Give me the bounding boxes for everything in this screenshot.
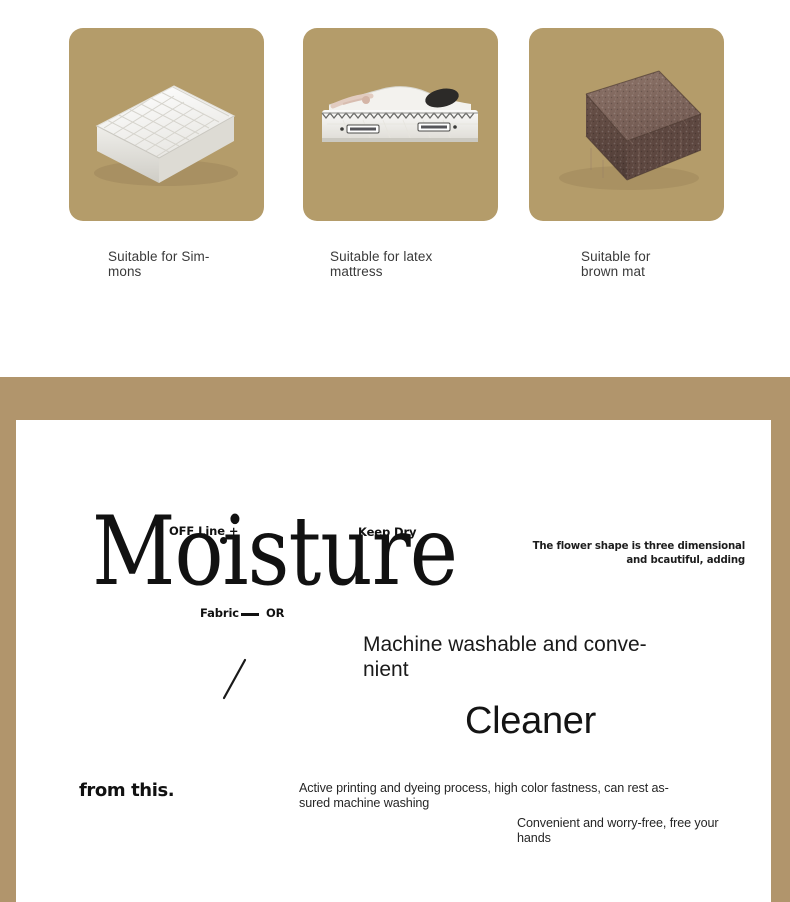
tag-fabric: Fabric <box>200 607 239 620</box>
dash-rule-icon <box>241 613 259 616</box>
compat-card-latex-mattress[interactable] <box>303 28 498 221</box>
compat-card-caption: Suitable for latex mattress <box>330 249 520 279</box>
dot-marker-icon <box>220 537 227 544</box>
product-detail-page: Suitable for Sim- mons Suitable for late… <box>0 0 790 902</box>
from-this-label: from this. <box>79 780 174 802</box>
compat-card-caption: Suitable for brown mat <box>581 249 771 279</box>
slash-mark-icon <box>221 657 249 701</box>
quilted-mattress-topper-icon <box>69 28 264 221</box>
latex-mattress-with-sleeper-icon <box>303 28 498 221</box>
cleaner-heading: Cleaner <box>465 699 596 743</box>
tag-off-line-label: OFF Line <box>169 524 225 538</box>
tag-or: OR <box>266 607 284 620</box>
machine-washable-heading: Machine washable and conve- nient <box>363 632 723 682</box>
compat-card-brown-mat[interactable] <box>529 28 724 221</box>
compat-card-caption: Suitable for Sim- mons <box>108 249 298 279</box>
compat-card-simmons[interactable] <box>69 28 264 221</box>
brown-coir-mat-block-icon <box>529 28 724 221</box>
tag-plus-label: + <box>229 524 239 538</box>
tag-off-line: OFF Line + <box>169 525 238 538</box>
compatibility-cards-section: Suitable for Sim- mons Suitable for late… <box>0 0 790 377</box>
tag-keep-dry: Keep Dry <box>358 526 416 539</box>
active-printing-note: Active printing and dyeing process, high… <box>299 781 731 811</box>
convenient-note: Convenient and worry-free, free your han… <box>517 816 742 846</box>
feature-panel: Moisture OFF Line + Keep Dry Fabric OR T… <box>16 420 771 902</box>
flower-shape-note: The flower shape is three dimensional an… <box>530 540 745 568</box>
moisture-wordmark: Moisture <box>92 503 457 599</box>
